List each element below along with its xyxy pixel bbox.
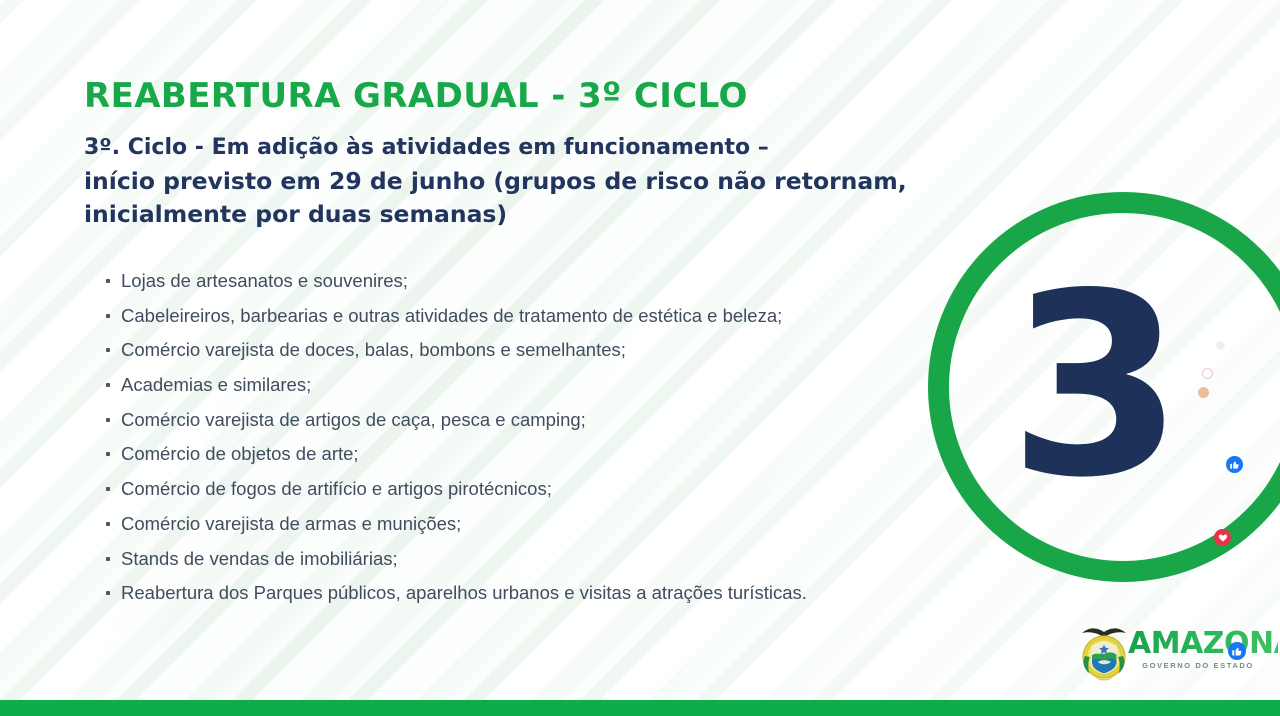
list-item: Reabertura dos Parques públicos, aparelh… bbox=[104, 576, 984, 611]
list-item: Cabeleireiros, barbearias e outras ativi… bbox=[104, 299, 984, 334]
reaction-like-icon bbox=[1226, 456, 1243, 473]
list-item-label: Comércio varejista de armas e munições; bbox=[121, 513, 461, 534]
list-item: Lojas de artesanatos e souvenires; bbox=[104, 264, 984, 299]
bullet-marker-icon bbox=[106, 522, 110, 526]
list-item: Comércio varejista de doces, balas, bomb… bbox=[104, 333, 984, 368]
coat-of-arms-icon bbox=[1076, 622, 1132, 682]
list-item: Comércio varejista de armas e munições; bbox=[104, 507, 984, 542]
bullet-marker-icon bbox=[106, 383, 110, 387]
list-item-label: Academias e similares; bbox=[121, 374, 311, 395]
list-item: Stands de vendas de imobiliárias; bbox=[104, 542, 984, 577]
list-item-label: Comércio varejista de artigos de caça, p… bbox=[121, 409, 586, 430]
bullet-marker-icon bbox=[106, 487, 110, 491]
list-item-label: Stands de vendas de imobiliárias; bbox=[121, 548, 398, 569]
list-item: Comércio varejista de artigos de caça, p… bbox=[104, 403, 984, 438]
list-item: Academias e similares; bbox=[104, 368, 984, 403]
decorative-bubble-faint bbox=[1216, 341, 1225, 350]
logo-tagline: GOVERNO DO ESTADO bbox=[1128, 661, 1268, 670]
list-item: Comércio de fogos de artifício e artigos… bbox=[104, 472, 984, 507]
bullet-marker-icon bbox=[106, 557, 110, 561]
logo-wordmark: AMAZONAS bbox=[1128, 628, 1278, 660]
list-item-label: Lojas de artesanatos e souvenires; bbox=[121, 270, 408, 291]
reaction-love-icon bbox=[1214, 529, 1231, 546]
bullet-marker-icon bbox=[106, 452, 110, 456]
logo-text-block: AMAZONAS GOVERNO DO ESTADO bbox=[1128, 628, 1278, 670]
bullet-marker-icon bbox=[106, 314, 110, 318]
list-item-label: Comércio varejista de doces, balas, bomb… bbox=[121, 339, 626, 360]
reaction-like-icon bbox=[1228, 642, 1246, 660]
decorative-bubble-ring bbox=[1202, 368, 1213, 379]
bullet-marker-icon bbox=[106, 418, 110, 422]
bullet-marker-icon bbox=[106, 591, 110, 595]
subtitle-line-1: 3º. Ciclo - Em adição às atividades em f… bbox=[84, 131, 964, 165]
list-item: Comércio de objetos de arte; bbox=[104, 437, 984, 472]
amazonas-government-logo: AMAZONAS GOVERNO DO ESTADO bbox=[1076, 620, 1276, 686]
list-item-label: Cabeleireiros, barbearias e outras ativi… bbox=[121, 305, 782, 326]
page-title: REABERTURA GRADUAL - 3º CICLO bbox=[84, 76, 748, 116]
decorative-bubble-dot bbox=[1198, 387, 1209, 398]
subtitle: 3º. Ciclo - Em adição às atividades em f… bbox=[84, 131, 964, 232]
bullet-marker-icon bbox=[106, 279, 110, 283]
activities-list: Lojas de artesanatos e souvenires; Cabel… bbox=[104, 264, 984, 611]
list-item-label: Reabertura dos Parques públicos, aparelh… bbox=[121, 582, 807, 603]
subtitle-line-3: inicialmente por duas semanas) bbox=[84, 198, 964, 232]
presentation-slide: 3 REABERTURA GRADUAL - 3º CICLO 3º. Cicl… bbox=[0, 0, 1280, 716]
bottom-accent-bar bbox=[0, 700, 1280, 716]
subtitle-line-2: início previsto em 29 de junho (grupos d… bbox=[84, 165, 964, 199]
bullet-marker-icon bbox=[106, 348, 110, 352]
list-item-label: Comércio de fogos de artifício e artigos… bbox=[121, 478, 552, 499]
list-item-label: Comércio de objetos de arte; bbox=[121, 443, 359, 464]
